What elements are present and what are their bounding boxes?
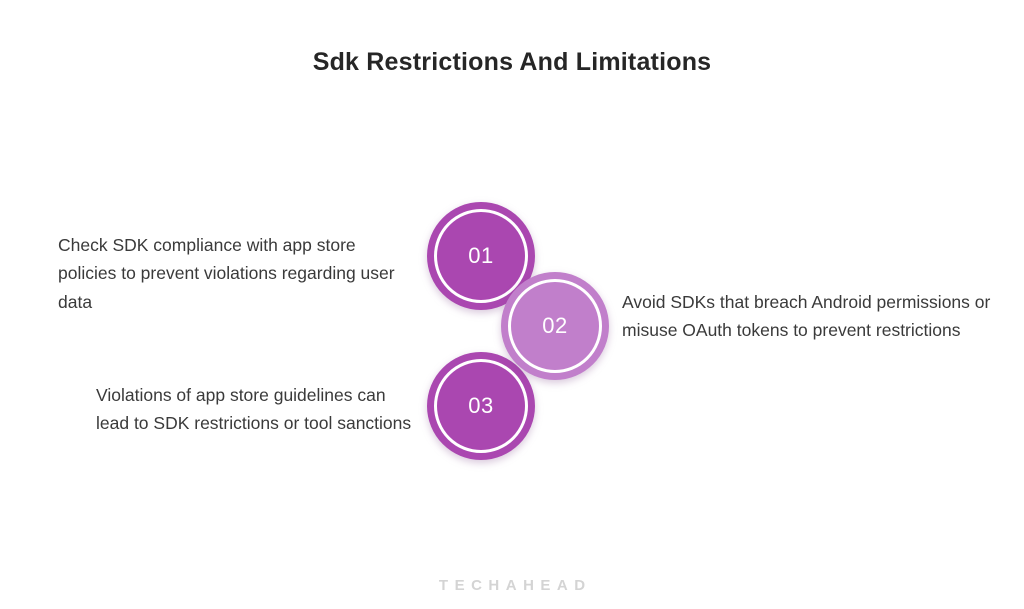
step-number-01: 01 bbox=[468, 245, 493, 267]
step-circle-03: 03 bbox=[427, 352, 535, 460]
step-circle-02: 02 bbox=[501, 272, 609, 380]
step-number-03: 03 bbox=[468, 395, 493, 417]
step-number-02: 02 bbox=[542, 315, 567, 337]
brand-wordmark: TECHAHEAD bbox=[0, 577, 1024, 594]
slide-canvas: Sdk Restrictions And Limitations 01 03 0… bbox=[0, 0, 1024, 609]
step-description-03: Violations of app store guidelines can l… bbox=[96, 381, 416, 438]
step-description-01: Check SDK compliance with app store poli… bbox=[58, 231, 416, 316]
step-description-02: Avoid SDKs that breach Android permissio… bbox=[622, 288, 994, 345]
